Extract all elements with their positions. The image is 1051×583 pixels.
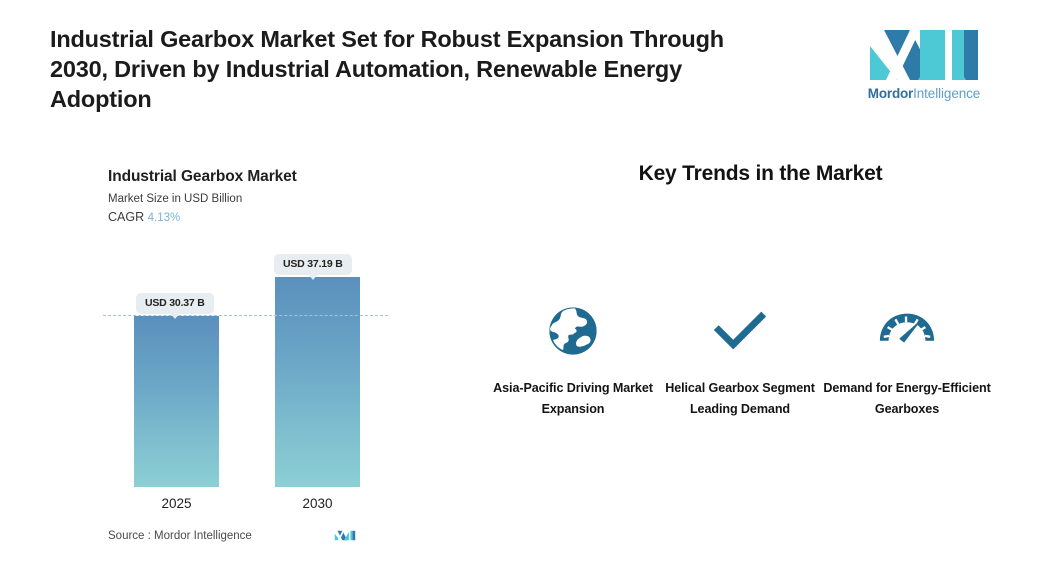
trend-label-helical-gearbox: Helical Gearbox Segment Leading Demand <box>655 378 825 420</box>
speedometer-icon <box>822 300 992 362</box>
source-name: Mordor Intelligence <box>154 530 252 542</box>
key-trends-heading: Key Trends in the Market <box>470 162 1051 186</box>
trend-item-helical-gearbox: Helical Gearbox Segment Leading Demand <box>655 300 825 420</box>
page-title: Industrial Gearbox Market Set for Robust… <box>50 24 780 114</box>
wordmark-light: Intelligence <box>913 86 980 101</box>
trend-item-asia-pacific: Asia-Pacific Driving Market Expansion <box>488 300 658 420</box>
key-trends-panel: Key Trends in the Market Asia-Pacific Dr… <box>470 150 1051 570</box>
source-text: Source : Mordor Intelligence <box>108 530 252 542</box>
page-header: Industrial Gearbox Market Set for Robust… <box>0 0 1051 130</box>
mordor-logo-wordmark: MordorIntelligence <box>866 86 982 102</box>
trend-label-asia-pacific: Asia-Pacific Driving Market Expansion <box>488 378 658 420</box>
source-label: Source : <box>108 530 151 542</box>
mordor-intelligence-logo: MordorIntelligence <box>866 26 982 104</box>
bar-2030 <box>275 277 360 487</box>
reference-dashed-line <box>103 315 388 316</box>
checkmark-icon <box>655 300 825 362</box>
chart-plot-area: USD 30.37 B USD 37.19 B 2025 2030 <box>0 150 470 570</box>
trend-item-energy-efficient: Demand for Energy-Efficient Gearboxes <box>822 300 992 420</box>
mordor-logo-small-icon <box>334 528 356 543</box>
x-axis-label-2025: 2025 <box>134 496 219 511</box>
value-label-2030: USD 37.19 B <box>274 254 352 275</box>
value-label-2025: USD 30.37 B <box>136 293 214 314</box>
wordmark-bold: Mordor <box>868 86 913 101</box>
market-size-chart: Industrial Gearbox Market Market Size in… <box>0 150 470 570</box>
mordor-logo-mark <box>866 26 982 84</box>
trend-label-energy-efficient: Demand for Energy-Efficient Gearboxes <box>822 378 992 420</box>
globe-asia-pacific-icon <box>488 300 658 362</box>
x-axis-label-2030: 2030 <box>275 496 360 511</box>
bar-2025 <box>134 316 219 487</box>
chart-source: Source : Mordor Intelligence <box>108 528 358 548</box>
